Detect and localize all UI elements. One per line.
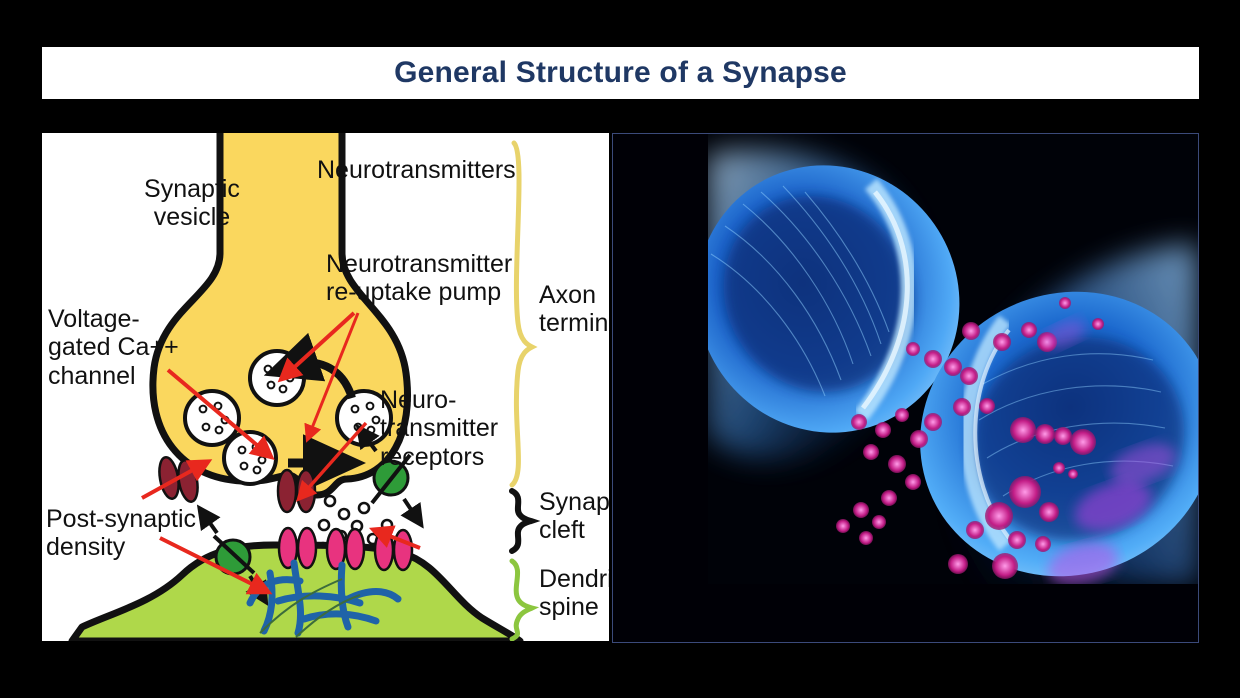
synapse-photo-panel bbox=[612, 133, 1199, 643]
slide-root: General Structure of a Synapse bbox=[0, 0, 1240, 698]
synapse-diagram-panel: Synaptic vesicle Voltage- gated Ca++ cha… bbox=[42, 133, 609, 641]
photo-content bbox=[646, 134, 1198, 628]
synapse-schematic-figure bbox=[42, 133, 609, 641]
page-title: General Structure of a Synapse bbox=[394, 56, 847, 90]
synapse-3d-render-image bbox=[613, 134, 1198, 642]
synaptic-vesicle bbox=[185, 391, 239, 445]
title-bar: General Structure of a Synapse bbox=[42, 47, 1199, 99]
synaptic-vesicle bbox=[250, 351, 304, 405]
